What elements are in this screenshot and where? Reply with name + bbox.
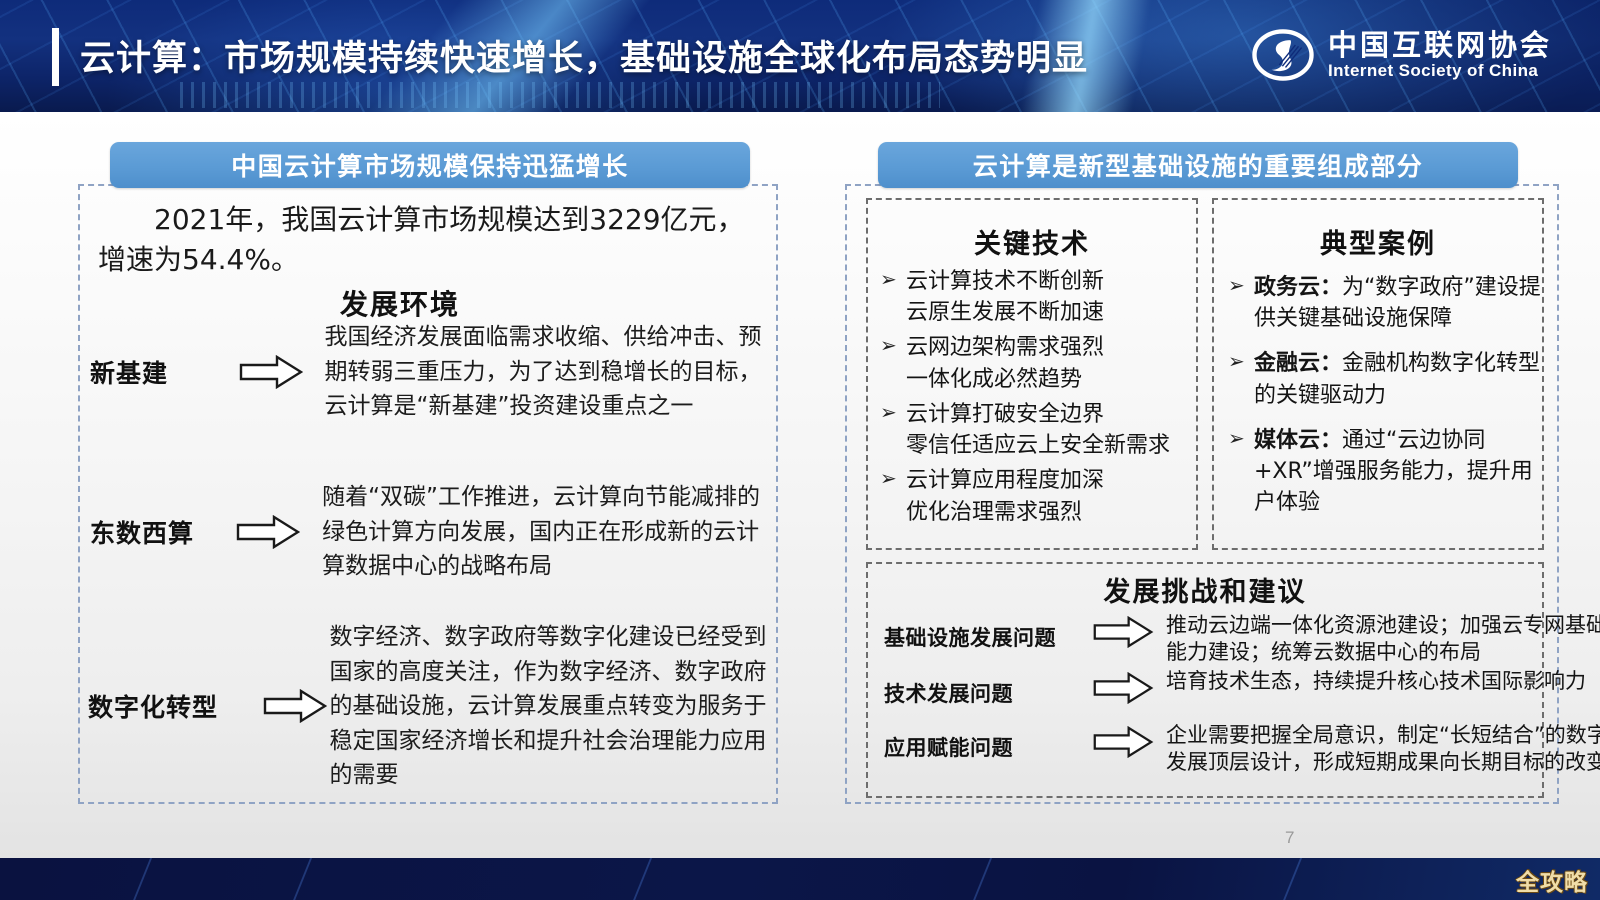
challenge-text: 培育技术生态，持续提升核心技术国际影响力: [1166, 668, 1600, 695]
list-item-text: 政务云：为“数字政府”建设提供关键基础设施保障: [1254, 272, 1548, 334]
list-item-text: 媒体云：通过“云边协同+XR”增强服务能力，提升用户体验: [1254, 425, 1548, 519]
row-text: 随着“双碳”工作推进，云计算向节能减排的绿色计算方向发展，国内正在形成新的云计算…: [322, 480, 780, 584]
list-item-text: 云网边架构需求强烈 一体化成必然趋势: [906, 332, 1104, 394]
slide-canvas: 云计算：市场规模持续快速增长，基础设施全球化布局态势明显 中国互联网协会 Int…: [0, 0, 1600, 900]
logo-name-en: Internet Society of China: [1328, 62, 1552, 80]
page-title: 云计算：市场规模持续快速增长，基础设施全球化布局态势明显: [80, 30, 1088, 81]
title-accent-bar: [52, 28, 59, 86]
logo-name-cn: 中国互联网协会: [1328, 30, 1552, 60]
list-item-text: 云计算技术不断创新 云原生发展不断加速: [906, 266, 1104, 328]
challenge-text: 企业需要把握全局意识，制定“长短结合”的数字化发展顶层设计，形成短期成果向长期目…: [1166, 722, 1600, 776]
slide-header-banner: 云计算：市场规模持续快速增长，基础设施全球化布局态势明显 中国互联网协会 Int…: [0, 0, 1600, 112]
development-environment-heading: 发展环境: [340, 283, 460, 323]
right-panel-title-pill: 云计算是新型基础设施的重要组成部分: [878, 142, 1518, 188]
list-item: ➢ 金融云：金融机构数字化转型的关键驱动力: [1228, 348, 1548, 410]
watermark: 全攻略: [1516, 863, 1588, 897]
typical-case-list: ➢ 政务云：为“数字政府”建设提供关键基础设施保障 ➢ 金融云：金融机构数字化转…: [1228, 272, 1548, 523]
arrow-cell: [1080, 722, 1166, 758]
challenge-label: 技术发展问题: [884, 668, 1080, 708]
list-item-text: 金融云：金融机构数字化转型的关键驱动力: [1254, 348, 1548, 410]
row-label: 东数西算: [90, 514, 236, 550]
right-arrow-icon: [236, 515, 300, 549]
right-arrow-icon: [263, 689, 327, 723]
right-arrow-icon: [1091, 672, 1155, 704]
challenge-suggestion-heading: 发展挑战和建议: [866, 570, 1544, 609]
row-label: 数字化转型: [88, 688, 263, 724]
left-row-digital-transformation: 数字化转型 数字经济、数字政府等数字化建设已经受到国家的高度关注，作为数字经济、…: [88, 620, 788, 793]
page-number: 7: [1285, 828, 1294, 848]
list-item: ➢ 云网边架构需求强烈 一体化成必然趋势: [880, 332, 1200, 394]
bullet-marker-icon: ➢: [1228, 272, 1254, 300]
list-item: ➢ 云计算技术不断创新 云原生发展不断加速: [880, 266, 1200, 328]
challenge-label: 应用赋能问题: [884, 722, 1080, 762]
challenge-row-technology: 技术发展问题 培育技术生态，持续提升核心技术国际影响力: [884, 668, 1600, 708]
left-row-new-infrastructure: 新基建 我国经济发展面临需求收缩、供给冲击、预期转弱三重压力，为了达到稳增长的目…: [90, 320, 780, 424]
list-item-text: 云计算打破安全边界 零信任适应云上安全新需求: [906, 399, 1170, 461]
organization-logo: 中国互联网协会 Internet Society of China: [1252, 24, 1552, 86]
bullet-marker-icon: ➢: [880, 399, 906, 427]
typical-case-heading: 典型案例: [1212, 222, 1544, 261]
arrow-cell: [1080, 612, 1166, 648]
list-item-text: 云计算应用程度加深 优化治理需求强烈: [906, 465, 1104, 527]
left-panel-title-pill: 中国云计算市场规模保持迅猛增长: [110, 142, 750, 188]
bullet-marker-icon: ➢: [880, 332, 906, 360]
list-item: ➢ 云计算打破安全边界 零信任适应云上安全新需求: [880, 399, 1200, 461]
key-technology-list: ➢ 云计算技术不断创新 云原生发展不断加速 ➢ 云网边架构需求强烈 一体化成必然…: [880, 266, 1200, 532]
bullet-marker-icon: ➢: [1228, 425, 1254, 453]
footer-strip: [0, 858, 1600, 900]
right-arrow-icon: [239, 355, 303, 389]
challenge-row-infrastructure: 基础设施发展问题 推动云边端一体化资源池建设；加强云专网基础能力建设；统筹云数据…: [884, 612, 1600, 666]
header-dot-pattern-decoration: [180, 82, 940, 108]
challenge-row-application: 应用赋能问题 企业需要把握全局意识，制定“长短结合”的数字化发展顶层设计，形成短…: [884, 722, 1600, 776]
list-item: ➢ 政务云：为“数字政府”建设提供关键基础设施保障: [1228, 272, 1548, 334]
right-arrow-icon: [1091, 616, 1155, 648]
challenge-label: 基础设施发展问题: [884, 612, 1080, 652]
list-item-label: 金融云：: [1254, 351, 1342, 376]
bullet-marker-icon: ➢: [1228, 348, 1254, 376]
bullet-marker-icon: ➢: [880, 266, 906, 294]
logo-text-block: 中国互联网协会 Internet Society of China: [1328, 30, 1552, 80]
list-item-label: 媒体云：: [1254, 428, 1342, 453]
key-technology-heading: 关键技术: [866, 222, 1198, 261]
isc-logo-icon: [1252, 24, 1314, 86]
arrow-cell: [1080, 668, 1166, 704]
list-item-label: 政务云：: [1254, 275, 1342, 300]
left-row-east-data-west-compute: 东数西算 随着“双碳”工作推进，云计算向节能减排的绿色计算方向发展，国内正在形成…: [90, 480, 780, 584]
left-panel-lead-text: 2021年，我国云计算市场规模达到3229亿元，增速为54.4%。: [98, 200, 768, 280]
bullet-marker-icon: ➢: [880, 465, 906, 493]
list-item: ➢ 云计算应用程度加深 优化治理需求强烈: [880, 465, 1200, 527]
row-label: 新基建: [90, 354, 239, 390]
right-arrow-icon: [1091, 726, 1155, 758]
challenge-text: 推动云边端一体化资源池建设；加强云专网基础能力建设；统筹云数据中心的布局: [1166, 612, 1600, 666]
row-text: 数字经济、数字政府等数字化建设已经受到国家的高度关注，作为数字经济、数字政府的基…: [329, 620, 788, 793]
list-item: ➢ 媒体云：通过“云边协同+XR”增强服务能力，提升用户体验: [1228, 425, 1548, 519]
row-text: 我国经济发展面临需求收缩、供给冲击、预期转弱三重压力，为了达到稳增长的目标，云计…: [325, 320, 780, 424]
